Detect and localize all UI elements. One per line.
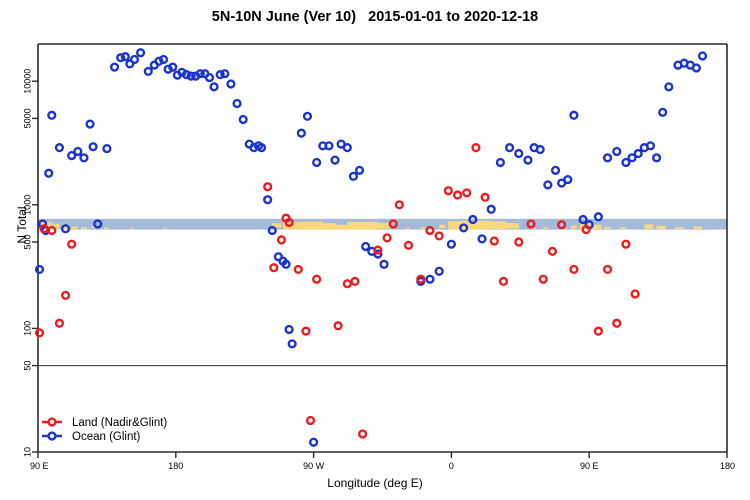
chart-legend: Land (Nadir&Glint)Ocean (Glint) (42, 417, 167, 443)
data-point-marker (448, 241, 455, 248)
data-point-marker (270, 264, 277, 271)
landmass-shape (347, 222, 378, 230)
legend-marker (49, 419, 56, 426)
data-point-marker (74, 148, 81, 155)
x-tick-label: 0 (449, 461, 454, 471)
series-ocean-glint (36, 49, 706, 445)
y-tick-label: 1000 (22, 195, 32, 215)
x-tick-label: 90 E (30, 461, 49, 471)
data-point-marker (131, 56, 138, 63)
landmass-shape (301, 222, 322, 230)
y-axis-ticks: 10501005001000500010000 (22, 69, 38, 457)
landmass-shape (130, 228, 133, 229)
data-point-marker (303, 328, 310, 335)
data-point-marker (352, 278, 359, 285)
data-point-marker (381, 261, 388, 268)
data-point-marker (286, 326, 293, 333)
data-point-marker (104, 145, 111, 152)
data-point-marker (278, 237, 285, 244)
data-point-marker (221, 70, 228, 77)
data-point-marker (269, 227, 276, 234)
y-tick-label: 10 (22, 447, 32, 457)
landmass-shape (675, 227, 684, 229)
landmass-shape (81, 227, 87, 229)
data-point-marker (699, 53, 706, 60)
landmass-shape (323, 223, 335, 229)
data-point-marker (604, 154, 611, 161)
data-point-marker (647, 142, 654, 149)
landmass-shape (378, 223, 390, 229)
data-point-marker (240, 116, 247, 123)
data-points (36, 49, 706, 445)
data-point-marker (693, 65, 700, 72)
data-point-marker (68, 241, 75, 248)
landmass-shape (571, 226, 577, 229)
data-point-marker (463, 189, 470, 196)
data-point-marker (482, 194, 489, 201)
data-point-marker (307, 417, 314, 424)
data-point-marker (304, 113, 311, 120)
data-point-marker (445, 187, 452, 194)
landmass-shape (507, 223, 519, 228)
landmass-shape (104, 227, 109, 229)
data-point-marker (613, 320, 620, 327)
data-point-marker (137, 49, 144, 56)
legend-marker (49, 433, 56, 440)
data-point-marker (145, 68, 152, 75)
data-point-marker (488, 206, 495, 213)
x-tick-label: 180 (168, 461, 183, 471)
data-point-marker (570, 112, 577, 119)
y-tick-label: 50 (22, 361, 32, 371)
data-point-marker (310, 439, 317, 446)
data-point-marker (491, 238, 498, 245)
data-point-marker (564, 176, 571, 183)
y-tick-label: 5000 (22, 108, 32, 128)
legend-entry: Land (Nadir&Glint) (42, 417, 167, 429)
data-point-marker (36, 329, 43, 336)
landmass-shape (644, 224, 653, 228)
data-point-marker (87, 121, 94, 128)
chart-figure: 5N-10N June (Ver 10) 2015-01-01 to 2020-… (0, 0, 750, 500)
data-point-marker (472, 144, 479, 151)
data-point-marker (549, 248, 556, 255)
landmass-shape (448, 221, 460, 229)
data-point-marker (396, 201, 403, 208)
data-point-marker (659, 109, 666, 116)
landmass-shape (657, 226, 666, 229)
data-point-marker (111, 64, 118, 71)
landmass-shape (72, 227, 78, 230)
data-point-marker (264, 183, 271, 190)
data-point-marker (417, 276, 424, 283)
data-point-marker (350, 173, 357, 180)
data-point-marker (62, 292, 69, 299)
data-point-marker (56, 144, 63, 151)
landmass-shape (405, 228, 410, 229)
legend-label: Land (Nadir&Glint) (72, 417, 167, 429)
data-point-marker (36, 266, 43, 273)
data-point-marker (169, 64, 176, 71)
data-point-marker (540, 276, 547, 283)
data-point-marker (665, 83, 672, 90)
data-point-marker (544, 181, 551, 188)
data-point-marker (515, 239, 522, 246)
data-point-marker (228, 81, 235, 88)
y-tick-label: 100 (22, 321, 32, 336)
landmass-shape (605, 227, 611, 229)
data-point-marker (56, 320, 63, 327)
data-point-marker (48, 112, 55, 119)
world-map-band (38, 219, 727, 230)
x-tick-label: 90 W (303, 461, 325, 471)
data-point-marker (497, 159, 504, 166)
data-point-marker (48, 227, 55, 234)
data-point-marker (479, 235, 486, 242)
legend-entry: Ocean (Glint) (42, 431, 141, 443)
data-point-marker (344, 280, 351, 287)
data-point-marker (298, 130, 305, 137)
data-point-marker (211, 83, 218, 90)
data-point-marker (313, 276, 320, 283)
data-point-marker (344, 144, 351, 151)
data-point-marker (525, 157, 532, 164)
data-point-marker (427, 276, 434, 283)
data-point-marker (595, 213, 602, 220)
data-point-marker (427, 227, 434, 234)
x-axis-ticks: 90 E18090 W090 E180 (30, 452, 735, 471)
landmass-shape (164, 228, 167, 229)
data-point-marker (122, 53, 129, 60)
data-point-marker (295, 266, 302, 273)
data-point-marker (515, 150, 522, 157)
data-point-marker (537, 146, 544, 153)
data-point-marker (632, 291, 639, 298)
data-point-marker (289, 340, 296, 347)
data-point-marker (653, 154, 660, 161)
data-point-marker (356, 167, 363, 174)
data-point-marker (160, 56, 167, 63)
x-tick-label: 90 E (580, 461, 599, 471)
data-point-marker (454, 192, 461, 199)
data-point-marker (635, 150, 642, 157)
data-point-marker (326, 142, 333, 149)
data-point-marker (359, 431, 366, 438)
data-point-marker (45, 170, 52, 177)
y-tick-label: 500 (22, 234, 32, 249)
data-point-marker (81, 154, 88, 161)
data-point-marker (335, 322, 342, 329)
legend-label: Ocean (Glint) (72, 431, 141, 443)
x-tick-label: 180 (720, 461, 735, 471)
data-point-marker (384, 234, 391, 241)
data-point-marker (234, 100, 241, 107)
data-point-marker (436, 268, 443, 275)
scatter-plot-canvas: 10501005001000500010000 90 E18090 W090 E… (0, 0, 750, 500)
data-point-marker (264, 196, 271, 203)
landmass-shape (491, 221, 506, 229)
landmass-shape (421, 227, 426, 229)
y-tick-label: 10000 (22, 69, 32, 94)
data-point-marker (405, 242, 412, 249)
data-point-marker (595, 328, 602, 335)
data-point-marker (332, 157, 339, 164)
data-point-marker (436, 233, 443, 240)
landmass-shape (620, 227, 626, 229)
data-point-marker (506, 144, 513, 151)
data-point-marker (623, 241, 630, 248)
landmass-shape (693, 226, 702, 229)
data-point-marker (570, 266, 577, 273)
data-point-marker (500, 278, 507, 285)
landmass-shape (335, 225, 347, 230)
landmass-shape (439, 225, 445, 228)
data-point-marker (313, 159, 320, 166)
data-point-marker (90, 143, 97, 150)
data-point-marker (552, 167, 559, 174)
data-point-marker (206, 74, 213, 81)
data-point-marker (604, 266, 611, 273)
data-point-marker (613, 148, 620, 155)
landmass-shape (543, 227, 548, 229)
